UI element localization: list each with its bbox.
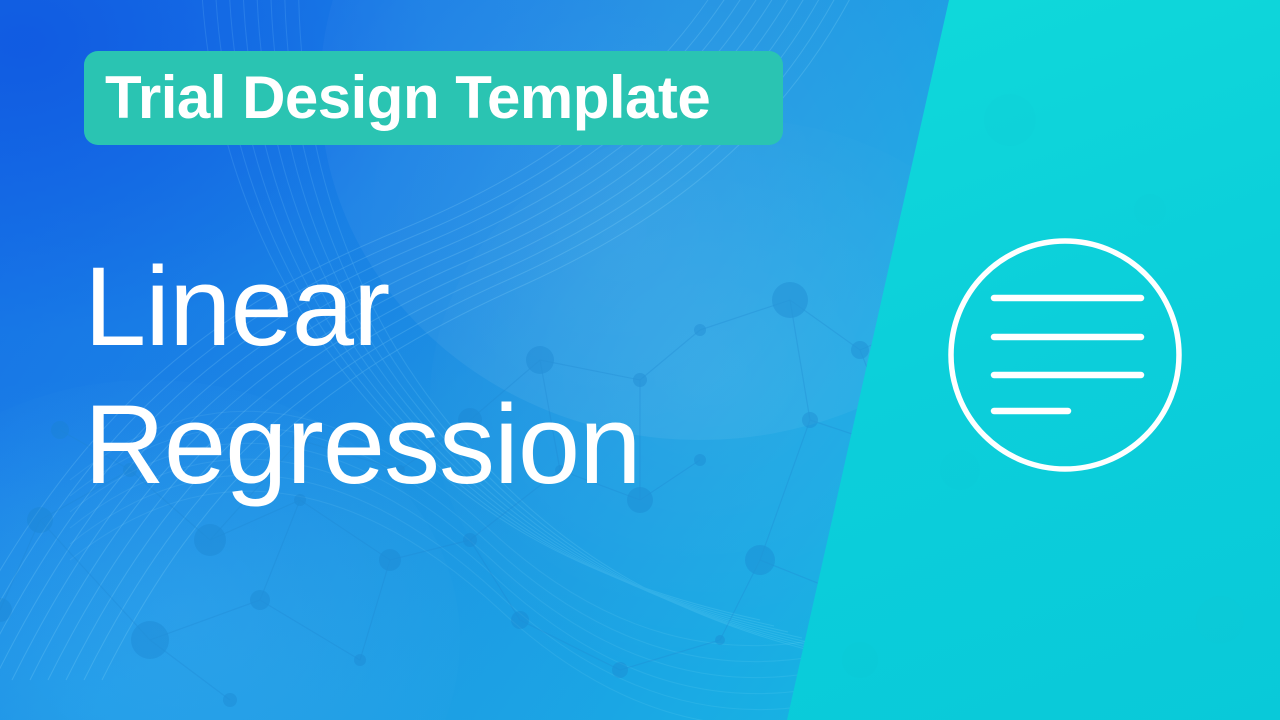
icon-circle-outline (951, 241, 1179, 469)
document-lines-circle-icon (945, 235, 1185, 475)
page-title-line-2: Regression (84, 376, 784, 514)
slide-canvas: Trial Design Template Linear Regression (0, 0, 1280, 720)
template-badge: Trial Design Template (84, 51, 783, 145)
page-title: Linear Regression (84, 238, 784, 514)
template-badge-label: Trial Design Template (105, 68, 710, 128)
page-title-line-1: Linear (84, 238, 784, 376)
icon-text-lines (994, 298, 1141, 411)
